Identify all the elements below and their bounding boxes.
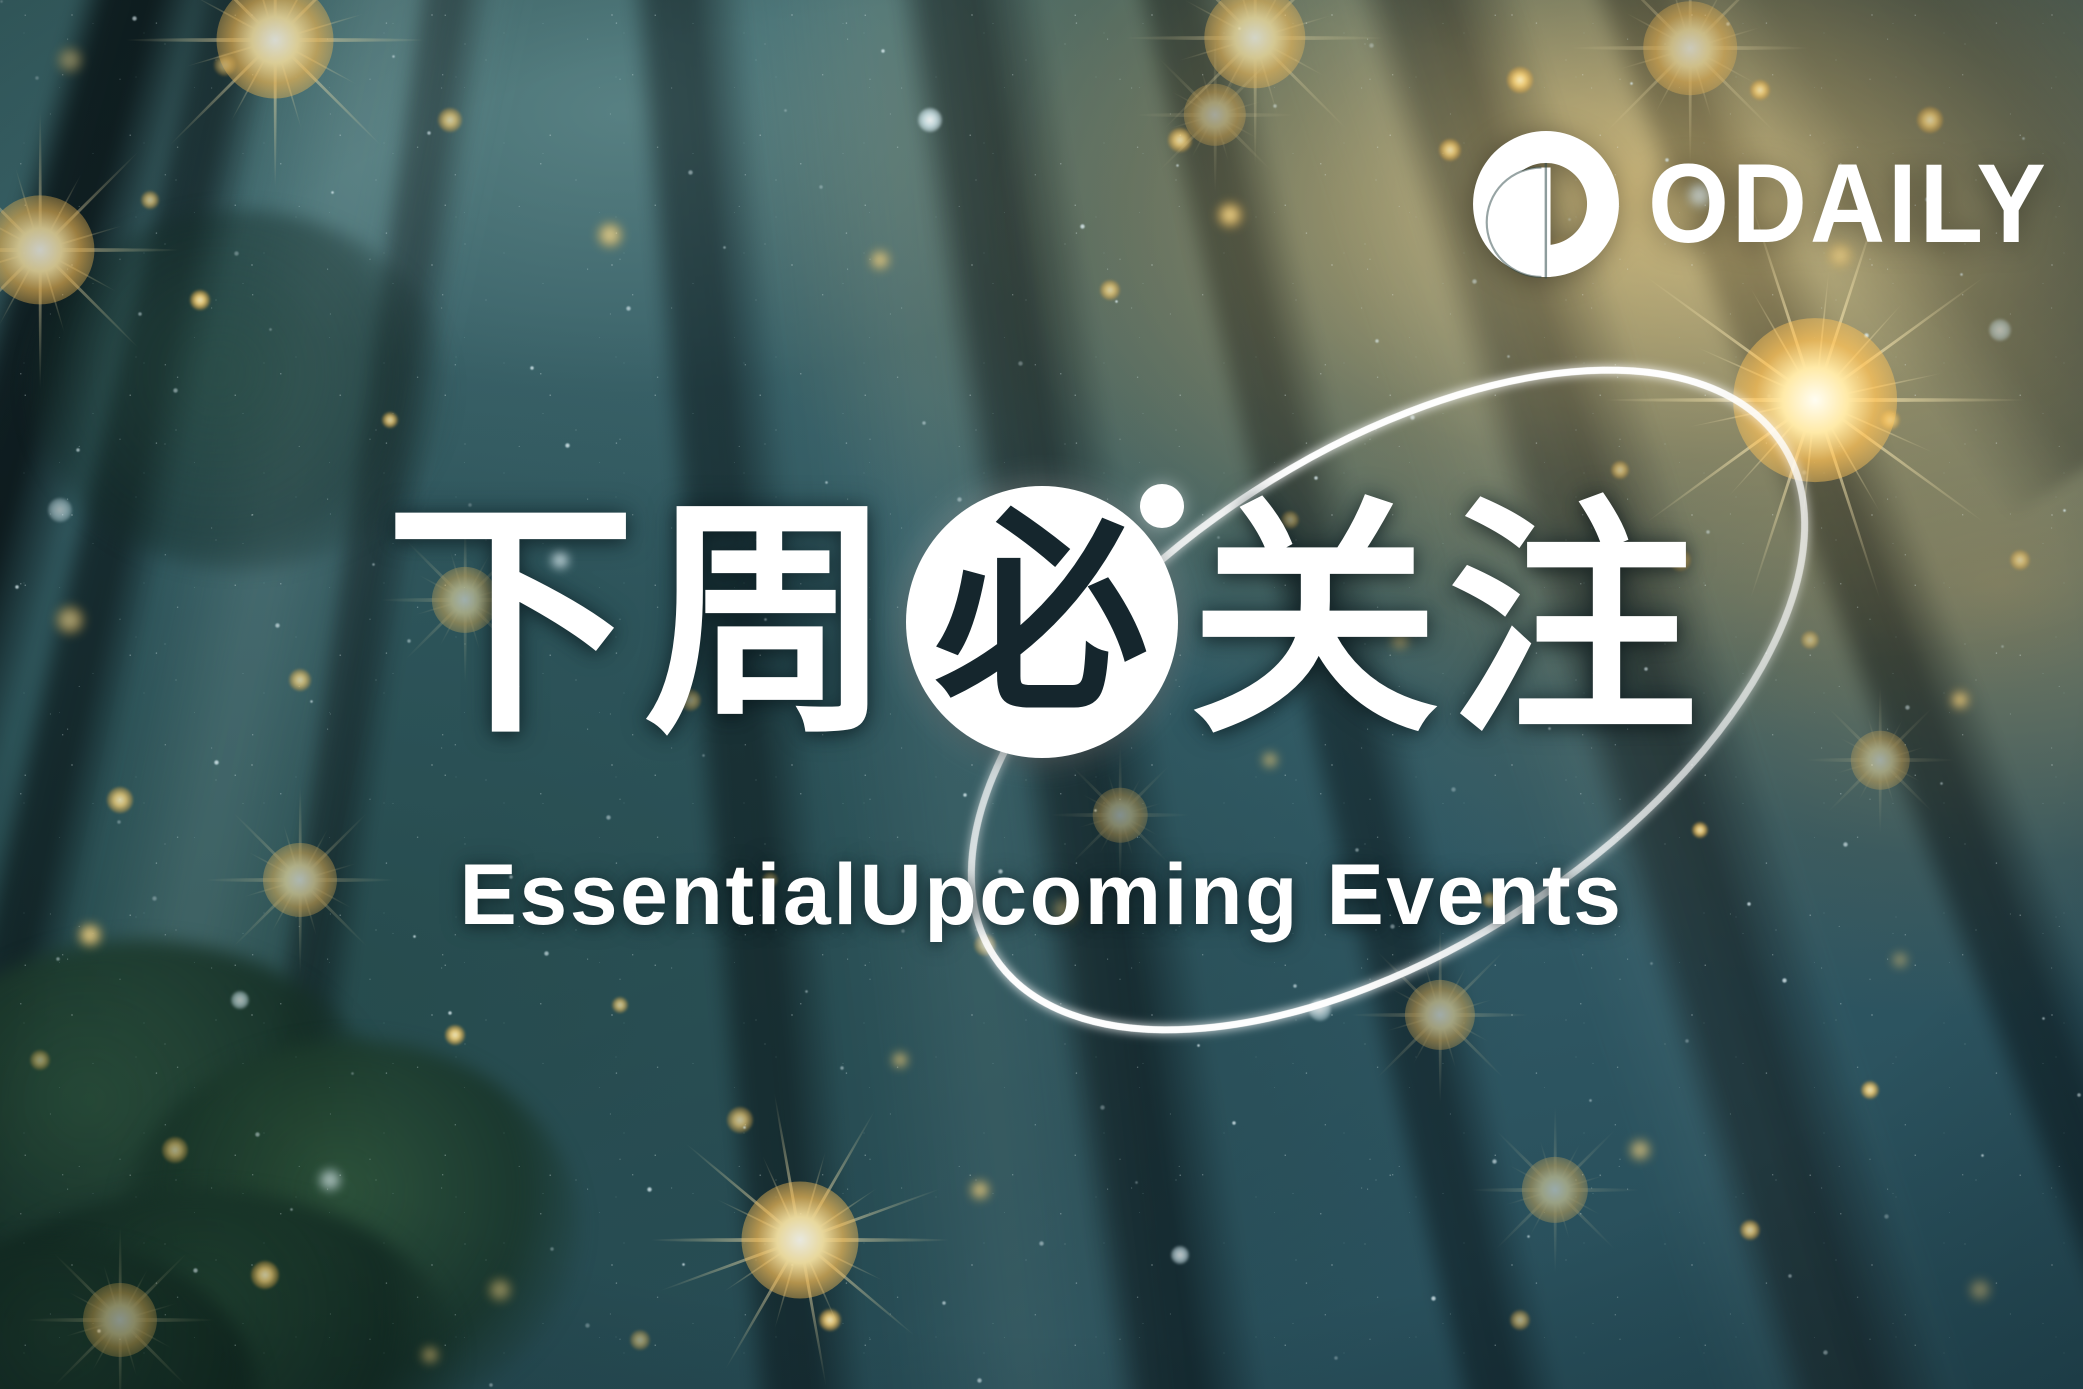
odaily-logo[interactable]: ODAILY (1470, 128, 2079, 280)
subtitle: EssentialUpcoming Events (0, 846, 2083, 945)
title-char-5: 注 (1448, 497, 1698, 747)
odaily-o-monogram-icon (1470, 128, 1622, 280)
title-char-4: 关 (1190, 497, 1440, 747)
title-char-3-badge: 必 (906, 486, 1178, 758)
banner-root: ODAILY 下 周 必 关 注 EssentialUpcoming Event… (0, 0, 2083, 1389)
title-char-3: 必 (935, 509, 1149, 723)
title-char-1: 下 (386, 497, 636, 747)
title-char-2: 周 (644, 497, 894, 747)
odaily-wordmark: ODAILY (1648, 148, 2049, 260)
main-title: 下 周 必 关 注 (0, 486, 2083, 758)
badge-accent-dot (1140, 484, 1184, 528)
